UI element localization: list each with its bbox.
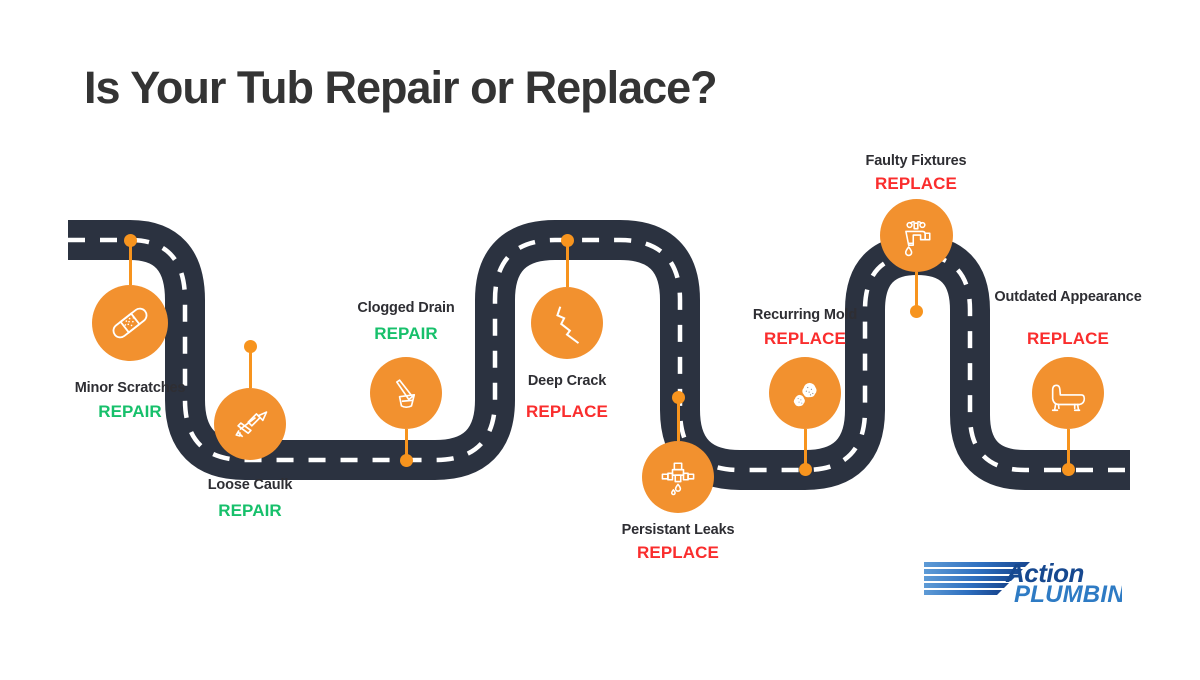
item-label: Outdated Appearance (988, 288, 1148, 307)
infographic-canvas: Is Your Tub Repair or Replace? (0, 0, 1200, 680)
connector-line (566, 240, 569, 287)
leaking-pipe-icon (656, 455, 700, 499)
icon-badge[interactable] (1032, 357, 1104, 429)
icon-badge[interactable] (769, 357, 841, 429)
item-label: Loose Caulk (208, 476, 293, 495)
item-label: Minor Scratches (75, 379, 186, 398)
item-verdict: REPAIR (98, 402, 162, 422)
icon-badge[interactable] (531, 287, 603, 359)
crack-icon (544, 300, 590, 346)
item-verdict: REPLACE (637, 543, 719, 563)
connector-line (249, 346, 252, 388)
logo-name-bottom: PLUMBING (1014, 581, 1122, 606)
road-marker-dot (1062, 463, 1075, 476)
road-marker-dot (799, 463, 812, 476)
item-label: Clogged Drain (357, 299, 454, 318)
item-verdict: REPLACE (1027, 329, 1109, 349)
item-label: Faulty Fixtures (866, 152, 967, 171)
plunger-icon (384, 371, 428, 415)
icon-badge[interactable] (370, 357, 442, 429)
caulk-gun-icon (228, 402, 272, 446)
item-verdict: REPAIR (218, 501, 282, 521)
item-label: Deep Crack (528, 372, 606, 391)
clawfoot-tub-icon (1045, 370, 1091, 416)
item-verdict: REPLACE (526, 402, 608, 422)
road-marker-dot (400, 454, 413, 467)
icon-badge[interactable] (214, 388, 286, 460)
item-label: Recurring Mold (753, 306, 857, 325)
item-label: Persistant Leaks (622, 521, 735, 540)
icon-badge[interactable] (92, 285, 168, 361)
mold-spores-icon (783, 371, 827, 415)
icon-badge[interactable] (642, 441, 714, 513)
bandage-icon (107, 300, 153, 346)
item-verdict: REPAIR (374, 324, 438, 344)
connector-line (129, 240, 132, 285)
road-marker-dot (910, 305, 923, 318)
icon-badge[interactable] (880, 199, 953, 272)
action-plumbing-logo[interactable]: Action PLUMBING (922, 556, 1122, 606)
faucet-icon (894, 214, 938, 258)
item-verdict: REPLACE (764, 329, 846, 349)
item-verdict: REPLACE (875, 174, 957, 194)
connector-line (677, 397, 680, 441)
